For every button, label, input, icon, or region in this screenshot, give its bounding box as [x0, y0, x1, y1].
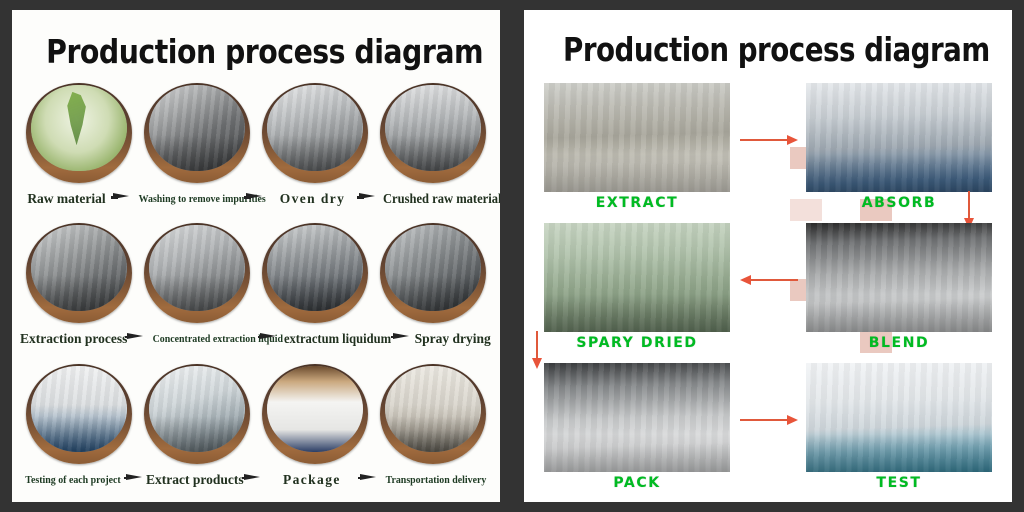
flow-step-pack[interactable]: PACK: [544, 363, 730, 491]
arrow-right-icon: [360, 471, 380, 485]
arrow-blend-to-spary-dried-icon: [740, 275, 798, 285]
left-row-2-labels: Extraction process Concentrated extracti…: [12, 327, 500, 347]
extraction-plant-photo: [31, 225, 127, 311]
arrow-right-icon: [393, 330, 413, 344]
washing-equipment-photo: [149, 85, 245, 171]
flow-step-blend[interactable]: BLEND: [806, 223, 992, 351]
blender-worker-photo: [806, 223, 992, 332]
process-step-extract-products[interactable]: [140, 364, 253, 464]
right-flow-grid: EXTRACT ABSORB: [524, 83, 1012, 502]
step-label-testing: Testing of each project: [25, 474, 120, 486]
step-label-extract-products: Extract products: [146, 473, 244, 488]
circle-frame: [380, 364, 486, 464]
arrow-spary-dried-to-pack-icon: [532, 331, 542, 369]
step-label-washing: Washing to remove impurities: [139, 193, 241, 205]
transportation-pallets-photo: [385, 366, 481, 452]
circle-frame: [26, 364, 132, 464]
oven-dry-equipment-photo: [267, 85, 363, 171]
circle-frame: [26, 223, 132, 323]
process-step-package[interactable]: [259, 364, 372, 464]
flow-label-extract: EXTRACT: [544, 195, 730, 211]
step-label-raw-material: Raw material: [20, 192, 113, 207]
step-label-extractum-liquidum: extractum liquidum: [284, 332, 389, 347]
right-row-3: PACK TEST: [544, 363, 992, 502]
right-row-1: EXTRACT ABSORB: [544, 83, 992, 223]
absorption-columns-photo: [806, 83, 992, 192]
left-process-panel: Production process diagram: [12, 10, 500, 502]
step-label-extraction-process: Extraction process: [20, 332, 127, 347]
flow-label-blend: BLEND: [806, 335, 992, 351]
step-label-concentrated-liquid: Concentrated extraction liquid: [153, 333, 255, 345]
raw-material-photo: [31, 85, 127, 171]
flow-label-spary-dried: SPARY DRIED: [544, 335, 730, 351]
qc-laboratory-photo: [806, 363, 992, 472]
circle-frame: [26, 83, 132, 183]
process-step-testing[interactable]: [22, 364, 135, 464]
packing-worker-photo: [544, 363, 730, 472]
arrow-right-icon: [127, 330, 147, 344]
extractum-liquidum-photo: [267, 225, 363, 311]
panel-divider: [500, 0, 524, 512]
circle-frame: [262, 83, 368, 183]
extract-products-photo: [149, 366, 245, 452]
step-label-transportation: Transportation delivery: [386, 474, 487, 486]
right-panel-title: Production process diagram: [563, 30, 973, 69]
laboratory-testing-photo: [31, 366, 127, 452]
process-step-extraction[interactable]: [22, 223, 135, 323]
concentration-tanks-photo: [149, 225, 245, 311]
spray-dryer-room-photo: [544, 223, 730, 332]
left-row-3-labels: Testing of each project Extract products…: [12, 468, 500, 488]
process-step-extractum[interactable]: [259, 223, 372, 323]
right-process-panel: Production process diagram EXTRACT: [524, 10, 1012, 502]
spray-drying-equipment-photo: [385, 225, 481, 311]
flow-step-spary-dried[interactable]: SPARY DRIED: [544, 223, 730, 351]
circle-frame: [144, 223, 250, 323]
packaging-bags-photo: [267, 366, 363, 452]
flow-label-test: TEST: [806, 475, 992, 491]
arrow-right-icon: [260, 330, 280, 344]
flow-step-extract[interactable]: EXTRACT: [544, 83, 730, 211]
left-panel-title: Production process diagram: [46, 32, 466, 71]
process-step-washing[interactable]: [140, 83, 253, 183]
crushing-equipment-photo: [385, 85, 481, 171]
circle-frame: [380, 83, 486, 183]
arrow-right-icon: [244, 471, 264, 485]
flow-step-test[interactable]: TEST: [806, 363, 992, 491]
step-label-crushed: Crushed raw materials: [383, 192, 488, 207]
left-row-1-images: [12, 83, 500, 183]
process-step-oven-dry[interactable]: [259, 83, 372, 183]
arrow-right-icon: [246, 190, 266, 204]
right-row-2: SPARY DRIED BLEND: [544, 223, 992, 363]
step-label-oven-dry: Oven dry: [266, 192, 359, 207]
process-step-crushed[interactable]: [377, 83, 490, 183]
arrow-right-icon: [359, 190, 379, 204]
circle-frame: [144, 364, 250, 464]
step-label-package: Package: [264, 473, 360, 488]
step-label-spray-drying: Spray drying: [413, 332, 492, 347]
left-row-1-labels: Raw material Washing to remove impuritie…: [12, 187, 500, 207]
extraction-tanks-photo: [544, 83, 730, 192]
circle-frame: [380, 223, 486, 323]
left-row-3-images: [12, 364, 500, 464]
process-step-transportation[interactable]: [377, 364, 490, 464]
flow-label-pack: PACK: [544, 475, 730, 491]
process-step-concentrated[interactable]: [140, 223, 253, 323]
arrow-right-icon: [113, 190, 133, 204]
left-row-2-images: [12, 223, 500, 323]
arrow-right-icon: [126, 471, 146, 485]
circle-frame: [262, 364, 368, 464]
circle-frame: [144, 83, 250, 183]
process-step-spray-drying[interactable]: [377, 223, 490, 323]
process-step-raw-material[interactable]: [22, 83, 135, 183]
arrow-extract-to-absorb-icon: [740, 135, 798, 145]
screenshot-canvas: Production process diagram: [0, 0, 1024, 512]
circle-frame: [262, 223, 368, 323]
arrow-pack-to-test-icon: [740, 415, 798, 425]
